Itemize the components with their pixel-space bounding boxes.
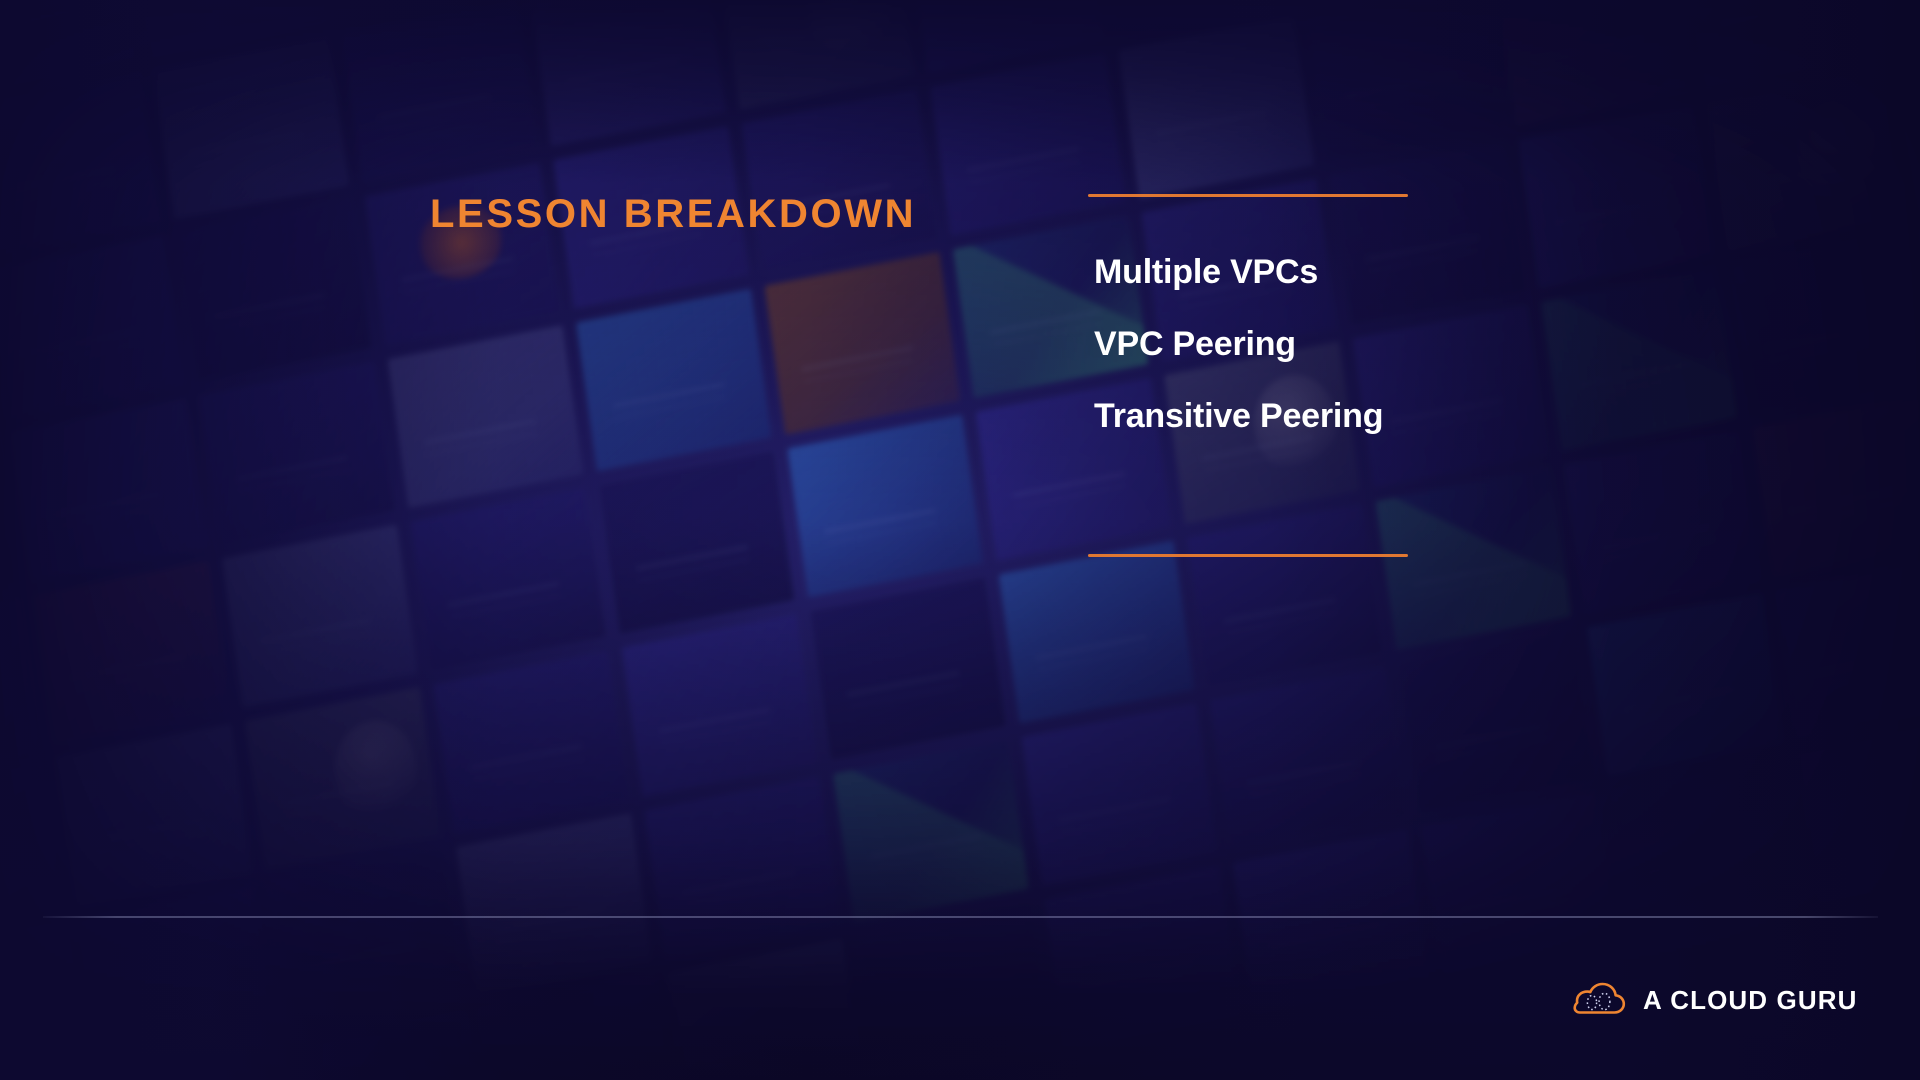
topics-panel: Multiple VPCs VPC Peering Transitive Pee… [1088, 194, 1418, 557]
list-item: Multiple VPCs [1088, 253, 1418, 292]
cloud-guru-icon [1573, 978, 1629, 1023]
brand-name: A CLOUD GURU [1643, 985, 1857, 1016]
background-vignette-overlay [0, 0, 1920, 1080]
rule-bottom [1088, 554, 1408, 557]
page-title: LESSON BREAKDOWN [430, 192, 916, 237]
topic-list: Multiple VPCs VPC Peering Transitive Pee… [1088, 253, 1418, 436]
brand-logo: A CLOUD GURU [1573, 978, 1857, 1023]
rule-top [1088, 194, 1408, 197]
list-item: VPC Peering [1088, 325, 1418, 364]
footer-divider [43, 916, 1878, 918]
list-item: Transitive Peering [1088, 397, 1418, 436]
slide-canvas: LESSON BREAKDOWN Multiple VPCs VPC Peeri… [0, 0, 1920, 1080]
rule-bottom-wrapper [1088, 554, 1418, 557]
background-artwork [0, 0, 1920, 1080]
